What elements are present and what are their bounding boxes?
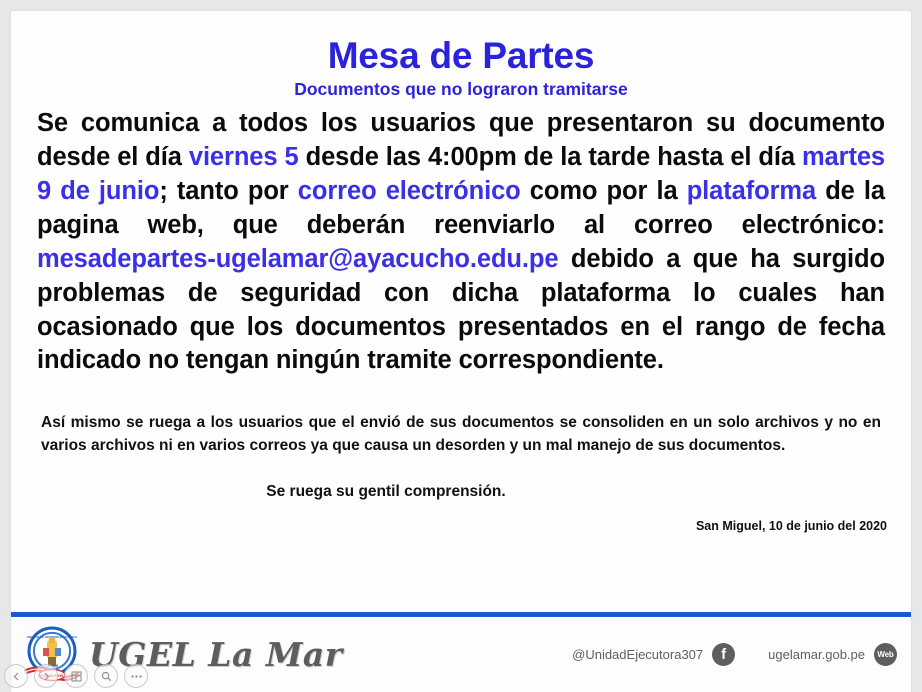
main-paragraph-seg-7: plataforma [687,177,816,205]
web-icon[interactable]: Web [874,643,897,666]
more-options-icon[interactable] [124,664,148,688]
zoom-search-icon[interactable] [94,664,118,688]
back-arrow-icon[interactable] [4,664,28,688]
document-content: Mesa de Partes Documentos que no lograro… [11,11,911,533]
facebook-icon[interactable]: f [712,643,735,666]
place-and-date: San Miguel, 10 de junio del 2020 [29,519,893,533]
facebook-handle-label: @UnidadEjecutora307 [572,647,703,662]
document-page: Mesa de Partes Documentos que no lograro… [11,11,911,692]
page-layout-icon[interactable] [64,664,88,688]
main-paragraph: Se comunica a todos los usuarios que pre… [37,107,885,378]
main-paragraph-seg-2: desde las 4:00pm de la tarde hasta el dí… [299,143,802,171]
page-title: Mesa de Partes [29,37,893,76]
website-link[interactable]: ugelamar.gob.pe Web [768,643,897,666]
page-subtitle: Documentos que no lograron tramitarse [29,80,893,99]
main-paragraph-seg-4: ; tanto por [159,177,297,205]
main-paragraph-seg-5: correo electrónico [298,177,521,205]
contact-email[interactable]: mesadepartes-ugelamar@ayacucho.edu.pe [37,245,558,273]
secondary-paragraph: Así mismo se ruega a los usuarios que el… [41,412,881,457]
viewer-controls [4,664,148,688]
website-url-label: ugelamar.gob.pe [768,647,865,662]
facebook-link[interactable]: @UnidadEjecutora307 f [572,643,735,666]
closing-line: Se ruega su gentil comprensión. [29,483,893,501]
main-paragraph-seg-1: viernes 5 [189,143,299,171]
footer-social-links: @UnidadEjecutora307 f ugelamar.gob.pe We… [572,643,897,666]
main-paragraph-seg-6: como por la [521,177,687,205]
document-viewer: Mesa de Partes Documentos que no lograro… [0,0,922,692]
forward-arrow-icon[interactable] [34,664,58,688]
